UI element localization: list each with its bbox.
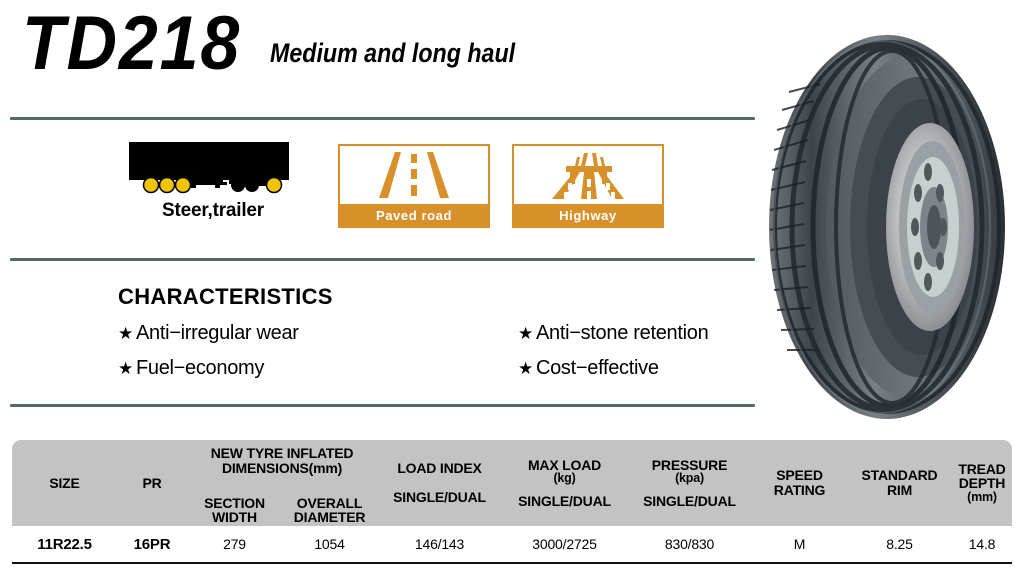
- cell-size: 11R22.5: [12, 526, 117, 562]
- characteristic-label: Cost−effective: [536, 357, 659, 379]
- truck-usage-label: Steer,trailer: [118, 200, 308, 222]
- cell-pr: 16PR: [117, 526, 187, 562]
- col-header-single-dual: SINGLE/DUAL: [393, 490, 486, 505]
- col-header-overall-diameter: OVERALL DIAMETER: [282, 496, 377, 525]
- col-header-tread-depth: TREADDEPTH (mm): [952, 440, 1012, 526]
- col-header-standard-rim: STANDARDRIM: [847, 440, 952, 526]
- star-icon: ★: [118, 359, 133, 378]
- cell-pressure: 830/830: [627, 526, 752, 562]
- characteristic-label: Anti−irregular wear: [136, 322, 299, 344]
- cell-speed-rating: M: [752, 526, 847, 562]
- divider-bottom: [10, 404, 755, 407]
- usage-strip: Steer,trailer Paved road: [0, 128, 760, 253]
- truck-usage-block: Steer,trailer: [118, 136, 308, 222]
- usage-badge-label: Paved road: [340, 204, 488, 226]
- characteristic-item: ★Cost−effective: [518, 357, 768, 380]
- col-header-unit: (kpa): [675, 472, 704, 485]
- characteristics-title: CHARACTERISTICS: [118, 284, 768, 310]
- semi-truck-icon: [121, 136, 306, 194]
- col-header-pr: PR: [117, 440, 187, 526]
- usage-badge-highway: Highway: [512, 144, 664, 228]
- product-image: [762, 30, 1012, 425]
- col-header-unit: (kg): [553, 472, 575, 485]
- divider-top: [10, 117, 755, 120]
- cell-load-index: 146/143: [377, 526, 502, 562]
- characteristic-label: Fuel−economy: [136, 357, 264, 379]
- spec-table: SIZE PR NEW TYRE INFLATED DIMENSIONS(mm)…: [12, 440, 1012, 564]
- star-icon: ★: [518, 324, 533, 343]
- col-header-load-index: LOAD INDEX SINGLE/DUAL: [377, 440, 502, 526]
- title-block: TD218 Medium and long haul: [22, 8, 555, 80]
- paved-road-icon: [340, 146, 488, 204]
- col-header-group-title: NEW TYRE INFLATED DIMENSIONS(mm): [187, 446, 377, 475]
- divider-middle: [10, 258, 755, 261]
- col-header-size: SIZE: [12, 440, 117, 526]
- truck-tire-photo: [762, 30, 1012, 425]
- col-header-new-tyre-inflated-dimensions: NEW TYRE INFLATED DIMENSIONS(mm) SECTION…: [187, 440, 377, 532]
- col-header-title: LOAD INDEX: [397, 461, 481, 476]
- tire-spec-sheet: TD218 Medium and long haul: [0, 0, 1022, 576]
- col-header-pressure: PRESSURE (kpa) SINGLE/DUAL: [627, 440, 752, 526]
- spec-table-header: SIZE PR NEW TYRE INFLATED DIMENSIONS(mm)…: [12, 440, 1012, 526]
- col-header-speed-rating: SPEEDRATING: [752, 440, 847, 526]
- col-header-single-dual: SINGLE/DUAL: [643, 494, 736, 509]
- characteristic-label: Anti−stone retention: [536, 322, 708, 344]
- usage-badge-label: Highway: [514, 204, 662, 226]
- cell-max-load: 3000/2725: [502, 526, 627, 562]
- col-header-title: PRESSURE: [652, 458, 727, 473]
- table-row: 11R22.5 16PR 279 1054 146/143 3000/2725 …: [12, 526, 1012, 564]
- cell-standard-rim: 8.25: [847, 526, 952, 562]
- col-header-single-dual: SINGLE/DUAL: [518, 494, 611, 509]
- col-header-max-load: MAX LOAD (kg) SINGLE/DUAL: [502, 440, 627, 526]
- col-header-section-width: SECTION WIDTH: [187, 496, 282, 525]
- col-header-title: MAX LOAD: [528, 458, 601, 473]
- model-subtitle: Medium and long haul: [270, 38, 515, 69]
- characteristic-item: ★Anti−stone retention: [518, 322, 768, 345]
- characteristics-section: CHARACTERISTICS ★Anti−irregular wear ★An…: [118, 284, 768, 380]
- cell-overall-diameter: 1054: [282, 526, 377, 562]
- col-header-subcolumns: SECTION WIDTH OVERALL DIAMETER: [187, 496, 377, 525]
- characteristic-item: ★Fuel−economy: [118, 357, 518, 380]
- col-header-unit: (mm): [967, 491, 997, 504]
- star-icon: ★: [518, 359, 533, 378]
- cell-section-width: 279: [187, 526, 282, 562]
- model-name: TD218: [22, 8, 241, 80]
- cell-tread-depth: 14.8: [952, 526, 1012, 562]
- star-icon: ★: [118, 324, 133, 343]
- highway-interchange-icon: [514, 146, 662, 204]
- characteristic-item: ★Anti−irregular wear: [118, 322, 518, 345]
- characteristics-list: ★Anti−irregular wear ★Anti−stone retenti…: [118, 322, 768, 380]
- usage-badge-paved-road: Paved road: [338, 144, 490, 228]
